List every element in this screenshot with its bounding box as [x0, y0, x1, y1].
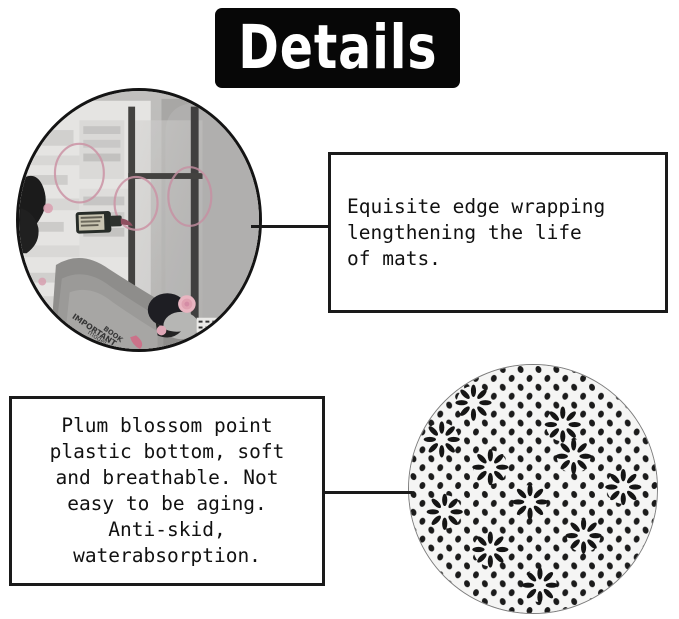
callout-edge-wrapping: Equisite edge wrapping lengthening the l…: [328, 152, 668, 313]
details-title-banner: Details: [215, 8, 460, 88]
connector-line-edge-wrapping: [251, 225, 331, 228]
mat-edge-photo-graphic: IMPORTANT model BOOK: [19, 91, 259, 349]
callout-plastic-bottom: Plum blossom point plastic bottom, soft …: [9, 396, 325, 586]
mat-backing-graphic: [409, 365, 657, 613]
circular-product-photo-anti-skid-backing: [408, 364, 658, 614]
connector-line-plastic-bottom: [322, 491, 412, 494]
product-details-page: Details: [0, 0, 679, 619]
callout-plastic-bottom-text: Plum blossom point plastic bottom, soft …: [12, 413, 322, 569]
page-title: Details: [238, 18, 437, 78]
callout-edge-wrapping-text: Equisite edge wrapping lengthening the l…: [331, 194, 665, 272]
circular-product-photo-edge-wrapping: IMPORTANT model BOOK: [16, 88, 262, 352]
